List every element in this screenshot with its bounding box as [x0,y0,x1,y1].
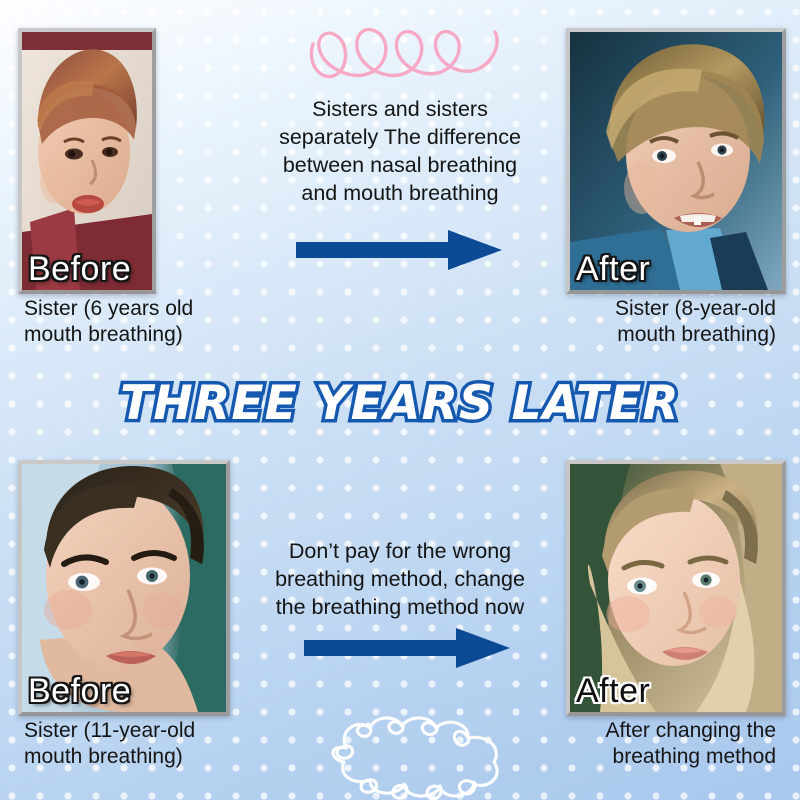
pink-loop-squiggle-icon [305,22,515,84]
top-center-text: Sisters and sisters separately The diffe… [255,96,545,208]
after-label-top: After [576,252,650,286]
white-cloud-doodle-icon [312,714,528,800]
before-label-bottom: Before [28,674,131,708]
bottom-center-text: Don’t pay for the wrong breathing method… [252,538,548,622]
three-years-later-banner: THREE YEARS LATER THREE YEARS LATER [0,376,800,431]
right-arrow-icon-bottom [304,626,512,670]
photo-after-child: After [566,28,786,294]
caption-top-left: Sister (6 years old mouth breathing) [24,296,274,347]
before-label-top: Before [28,252,131,286]
right-arrow-icon-top [296,228,504,272]
after-label-bottom: After [576,674,650,708]
caption-top-right: Sister (8-year-old mouth breathing) [496,296,776,347]
caption-bottom-left: Sister (11-year-old mouth breathing) [24,718,274,769]
photo-after-teen: After [566,460,786,716]
banner-text-fill: THREE YEARS LATER [120,376,680,431]
photo-before-child: Before [18,28,156,294]
poster-root: Before Sister (6 years old mouth breathi… [0,0,800,800]
photo-before-teen: Before [18,460,230,716]
caption-bottom-right: After changing the breathing method [506,718,776,769]
